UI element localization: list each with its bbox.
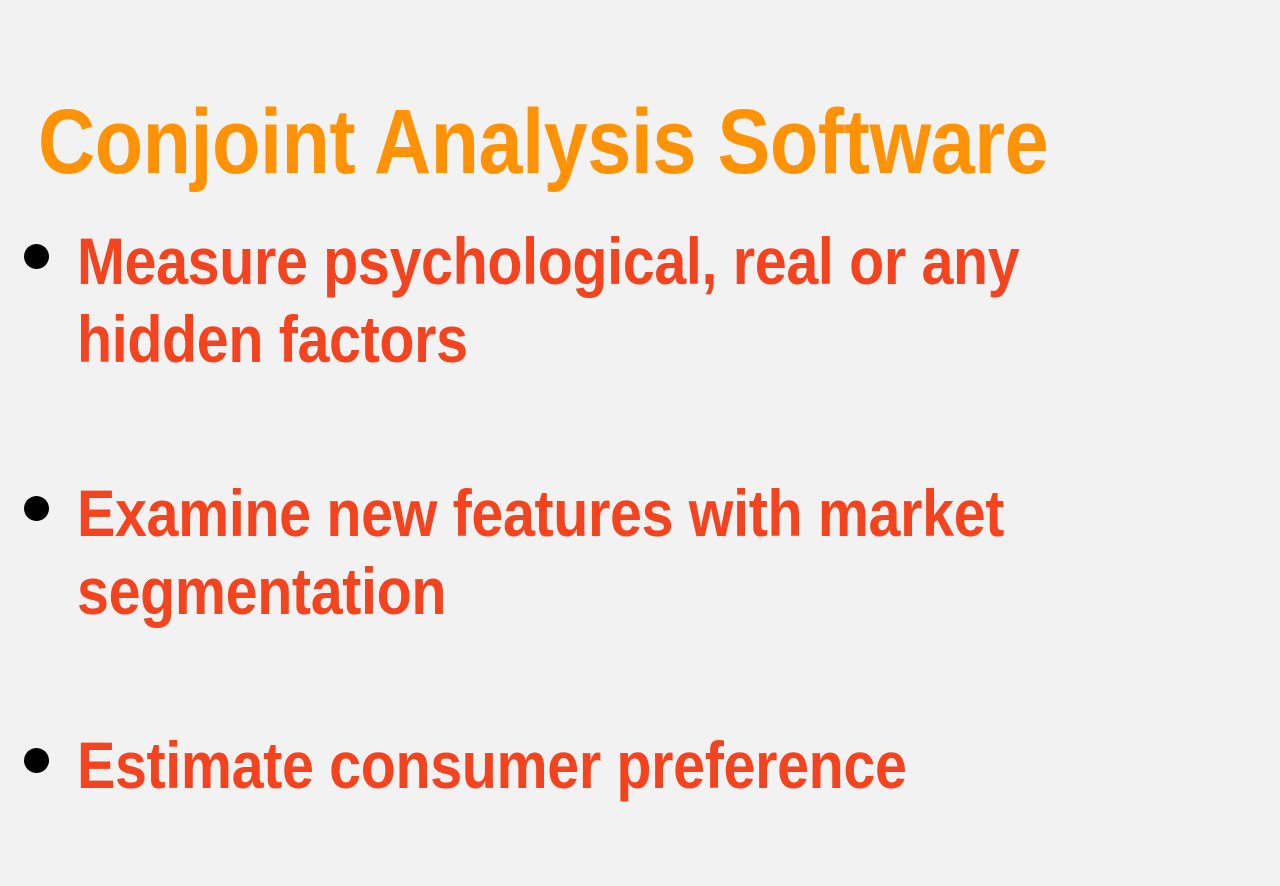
list-item-label: Estimate consumer preference xyxy=(77,726,1280,804)
slide-canvas: Conjoint Analysis Software Measure psych… xyxy=(0,0,1280,886)
list-item: Estimate consumer preference xyxy=(0,726,1280,804)
bullet-list: Measure psychological, real or any hidde… xyxy=(0,222,1280,804)
list-item-label: Measure psychological, real or any hidde… xyxy=(77,222,1160,378)
page-title: Conjoint Analysis Software xyxy=(38,96,1070,190)
list-item: Measure psychological, real or any hidde… xyxy=(0,222,1280,378)
bullet-dot-icon xyxy=(24,496,49,521)
list-item: Examine new features with market segment… xyxy=(0,474,1280,630)
bullet-dot-icon xyxy=(24,244,49,269)
bullet-dot-icon xyxy=(24,748,49,773)
list-item-label: Examine new features with market segment… xyxy=(77,474,1151,630)
